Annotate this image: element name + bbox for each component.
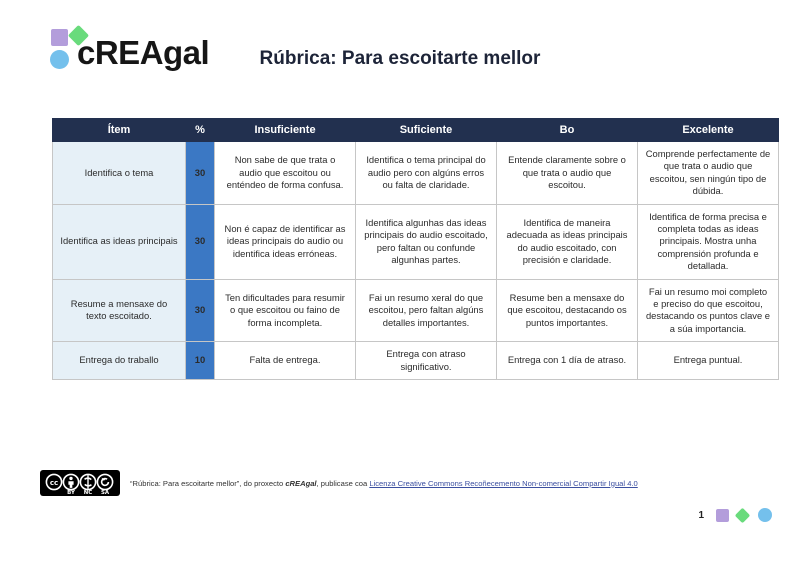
cell-insuficiente: Non sabe de que trata o audio que escoit… xyxy=(215,142,356,205)
license-project-name: cREAgal xyxy=(285,479,316,488)
license-text-middle: , publicase coa xyxy=(317,479,370,488)
table-row: Identifica o tema 30 Non sabe de que tra… xyxy=(53,142,779,205)
cell-bo: Entrega con 1 día de atraso. xyxy=(497,342,638,380)
cell-bo: Entende claramente sobre o que trata o a… xyxy=(497,142,638,205)
cell-percent: 30 xyxy=(186,204,215,279)
cc-by-nc-sa-icon: cc BY NC SA xyxy=(40,470,120,496)
rubric-table-wrapper: Ítem % Insuficiente Suficiente Bo Excele… xyxy=(52,118,749,380)
column-header-insuficiente: Insuficiente xyxy=(215,119,356,142)
cell-item: Identifica as ideas principais xyxy=(53,204,186,279)
cell-bo: Identifica de maneira adecuada as ideas … xyxy=(497,204,638,279)
table-header-row: Ítem % Insuficiente Suficiente Bo Excele… xyxy=(53,119,779,142)
cell-excelente: Identifica de forma precisa e completa t… xyxy=(638,204,779,279)
license-link[interactable]: Licenza Creative Commons Recoñecemento N… xyxy=(369,479,637,488)
cell-item: Resume a mensaxe do texto escoitado. xyxy=(53,279,186,342)
diamond-icon xyxy=(735,507,751,523)
cell-suficiente: Identifica o tema principal do audio per… xyxy=(356,142,497,205)
license-footer: cc BY NC SA “Rúbrica: Para escoitarte me… xyxy=(40,470,638,496)
cell-suficiente: Fai un resumo xeral do que escoitou, per… xyxy=(356,279,497,342)
svg-text:BY: BY xyxy=(67,490,75,495)
cell-bo: Resume ben a mensaxe do que escoitou, de… xyxy=(497,279,638,342)
svg-text:SA: SA xyxy=(101,490,110,495)
license-text-before: “Rúbrica: Para escoitarte mellor”, do pr… xyxy=(130,479,285,488)
page-header: cREAgal Rúbrica: Para escoitarte mellor xyxy=(0,0,800,100)
cell-insuficiente: Falta de entrega. xyxy=(215,342,356,380)
column-header-suficiente: Suficiente xyxy=(356,119,497,142)
license-text: “Rúbrica: Para escoitarte mellor”, do pr… xyxy=(130,479,638,488)
cell-percent: 10 xyxy=(186,342,215,380)
page-title: Rúbrica: Para escoitarte mellor xyxy=(0,48,800,70)
column-header-bo: Bo xyxy=(497,119,638,142)
svg-text:cc: cc xyxy=(50,479,58,487)
svg-text:NC: NC xyxy=(84,490,93,495)
cell-insuficiente: Ten dificultades para resumir o que esco… xyxy=(215,279,356,342)
page-number: 1 xyxy=(698,510,704,521)
rubric-table: Ítem % Insuficiente Suficiente Bo Excele… xyxy=(52,118,779,380)
cell-suficiente: Entrega con atraso significativo. xyxy=(356,342,497,380)
column-header-excelente: Excelente xyxy=(638,119,779,142)
cell-insuficiente: Non é capaz de identificar as ideas prin… xyxy=(215,204,356,279)
cell-item: Identifica o tema xyxy=(53,142,186,205)
square-icon xyxy=(716,509,729,522)
page-footer: 1 xyxy=(698,508,772,522)
cell-excelente: Comprende perfectamente de que trata o a… xyxy=(638,142,779,205)
cell-suficiente: Identifica algunhas das ideas principais… xyxy=(356,204,497,279)
column-header-item: Ítem xyxy=(53,119,186,142)
table-row: Resume a mensaxe do texto escoitado. 30 … xyxy=(53,279,779,342)
cell-excelente: Fai un resumo moi completo e preciso do … xyxy=(638,279,779,342)
table-row: Entrega do traballo 10 Falta de entrega.… xyxy=(53,342,779,380)
cell-item: Entrega do traballo xyxy=(53,342,186,380)
column-header-percent: % xyxy=(186,119,215,142)
cell-percent: 30 xyxy=(186,279,215,342)
cell-excelente: Entrega puntual. xyxy=(638,342,779,380)
circle-icon xyxy=(758,508,772,522)
footer-logo-shapes xyxy=(716,508,772,522)
table-row: Identifica as ideas principais 30 Non é … xyxy=(53,204,779,279)
cell-percent: 30 xyxy=(186,142,215,205)
square-icon xyxy=(51,29,68,46)
